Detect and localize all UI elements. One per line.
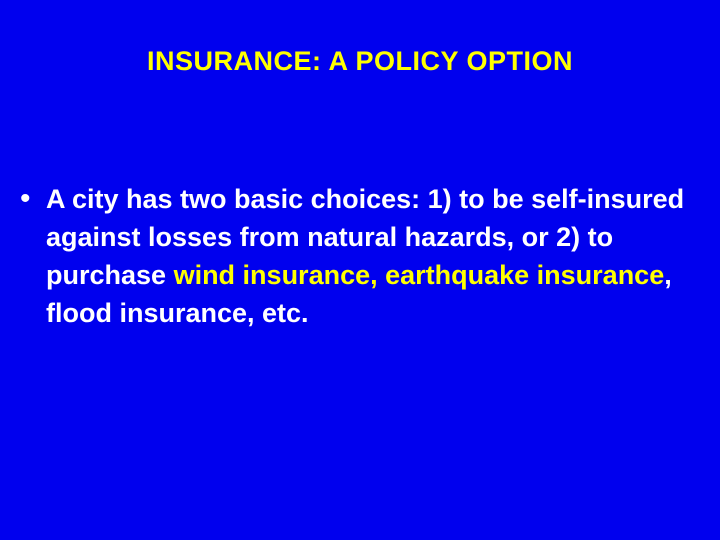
bullet-dot-icon: • bbox=[18, 180, 46, 218]
bullet-text: A city has two basic choices: 1) to be s… bbox=[46, 180, 708, 332]
slide-canvas: INSURANCE: A POLICY OPTION • A city has … bbox=[0, 0, 720, 540]
bullet-text-highlight: wind insurance, earthquake insurance bbox=[174, 260, 665, 290]
slide-body: • A city has two basic choices: 1) to be… bbox=[18, 180, 708, 332]
page-title: INSURANCE: A POLICY OPTION bbox=[0, 46, 720, 77]
list-item: • A city has two basic choices: 1) to be… bbox=[18, 180, 708, 332]
